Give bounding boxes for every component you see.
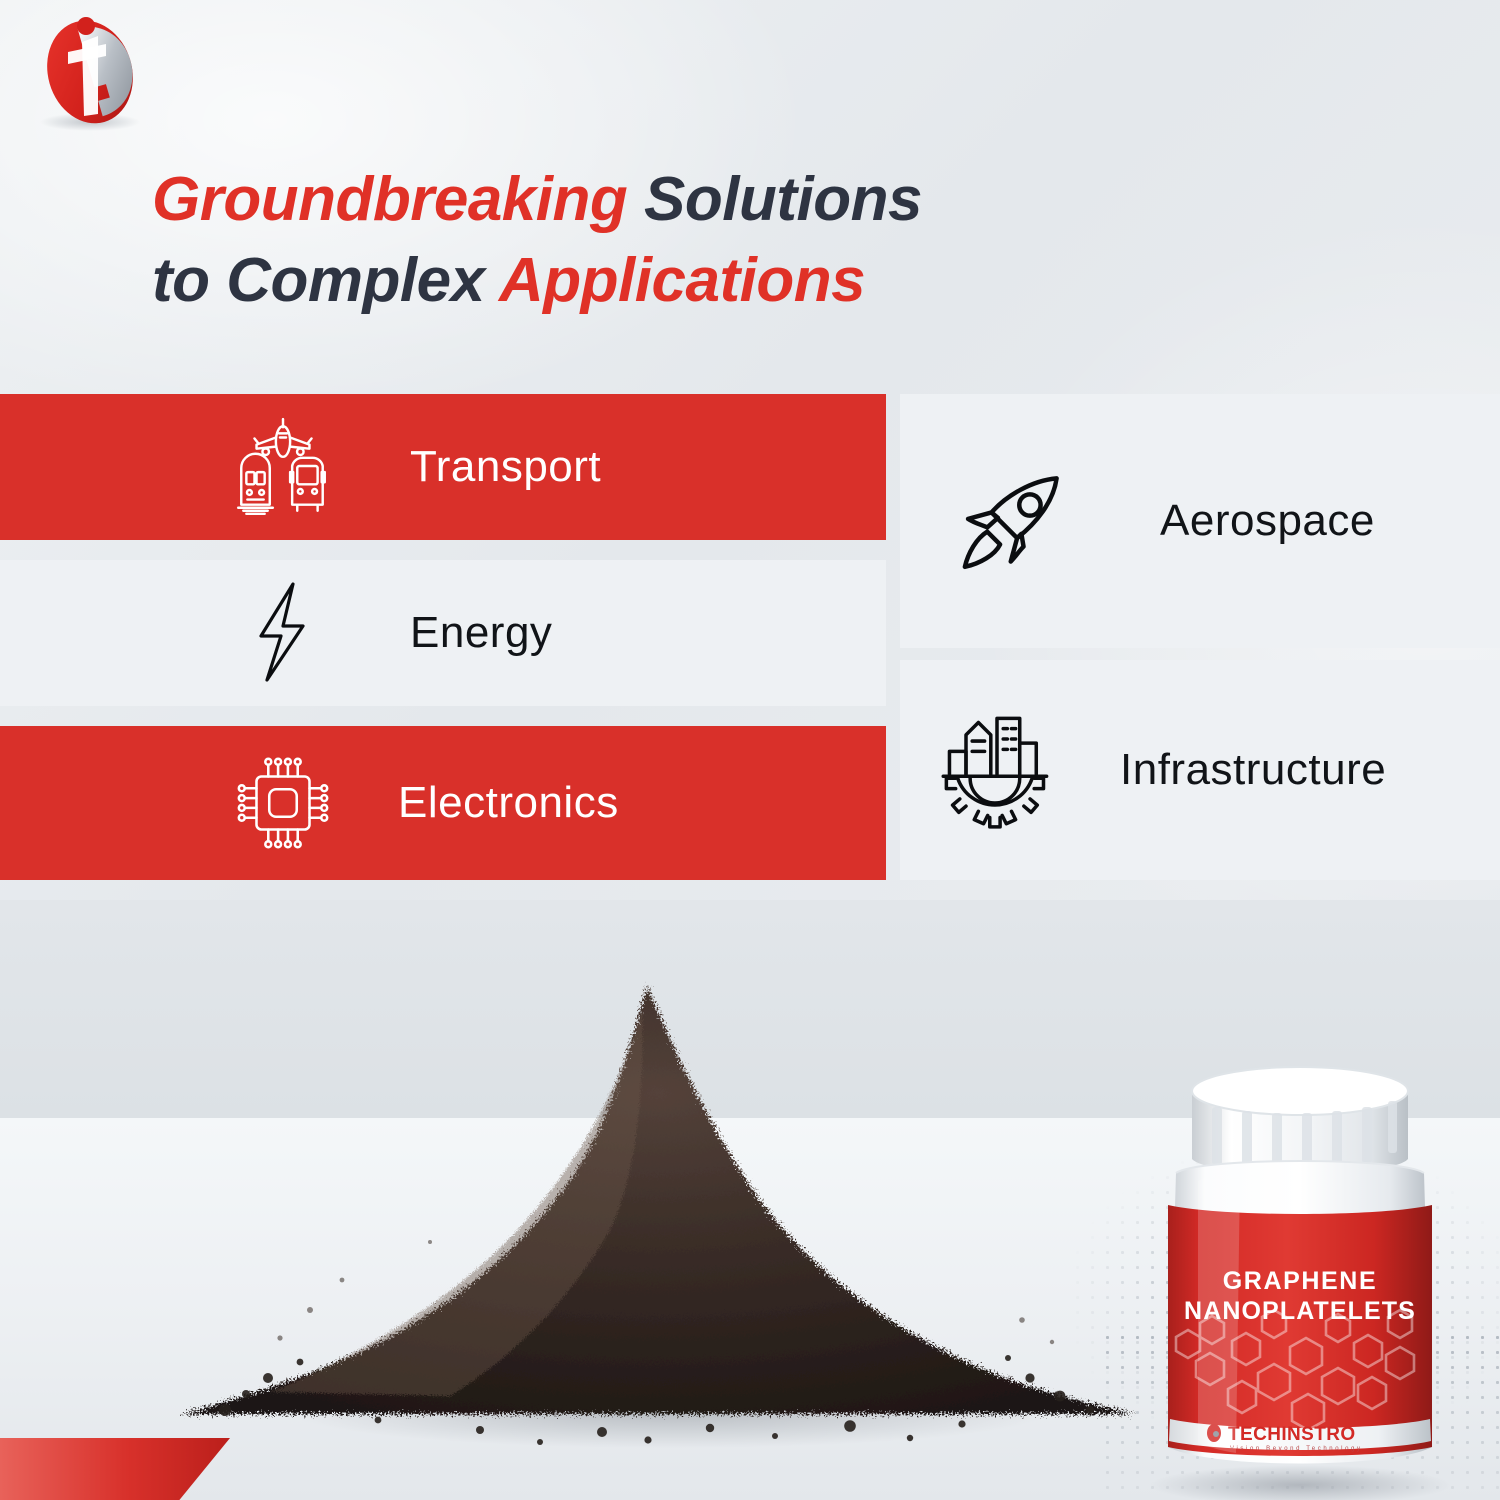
- rocket-icon: [940, 457, 1090, 585]
- bottle-brand-tagline: Vision Beyond Technology: [1230, 1446, 1363, 1452]
- plane-train-bus-icon: [218, 411, 348, 523]
- bottle-brand-name: TECHINSTRO: [1228, 1424, 1356, 1445]
- city-gear-icon: [922, 708, 1072, 832]
- headline-groundbreaking: Groundbreaking: [152, 165, 627, 234]
- application-card-label: Aerospace: [1160, 496, 1375, 546]
- product-name-line-1: GRAPHENE: [1223, 1267, 1378, 1295]
- headline-applications: Applications: [499, 246, 865, 315]
- microchip-icon: [218, 749, 348, 857]
- bottle-cap: [1192, 1067, 1408, 1174]
- application-card-label: Transport: [410, 442, 601, 492]
- product-bottle[interactable]: GRAPHENE NANOPLATELETS TECHINSTRO Vision…: [1150, 1055, 1450, 1500]
- headline-line-1: Groundbreaking Solutions: [152, 160, 1252, 241]
- promotional-poster: Groundbreaking Solutions to Complex Appl…: [0, 0, 1500, 1500]
- application-card-energy[interactable]: Energy: [0, 560, 886, 706]
- graphene-powder-heap: [150, 980, 1150, 1450]
- headline-solutions: Solutions: [644, 165, 922, 234]
- application-card-aerospace[interactable]: Aerospace: [900, 394, 1500, 648]
- page-title: Groundbreaking Solutions to Complex Appl…: [152, 160, 1252, 321]
- application-card-electronics[interactable]: Electronics: [0, 726, 886, 880]
- lightning-bolt-icon: [218, 578, 348, 688]
- application-card-label: Energy: [410, 608, 552, 658]
- application-card-label: Electronics: [398, 778, 619, 828]
- application-card-transport[interactable]: Transport: [0, 394, 886, 540]
- application-cards-grid: Transport Energy: [0, 394, 1500, 894]
- application-card-infrastructure[interactable]: Infrastructure: [900, 660, 1500, 880]
- techinstro-logo[interactable]: [28, 10, 168, 135]
- headline-to-complex: to Complex: [152, 246, 485, 315]
- application-card-label: Infrastructure: [1120, 745, 1386, 795]
- headline-line-2: to Complex Applications: [152, 241, 1252, 322]
